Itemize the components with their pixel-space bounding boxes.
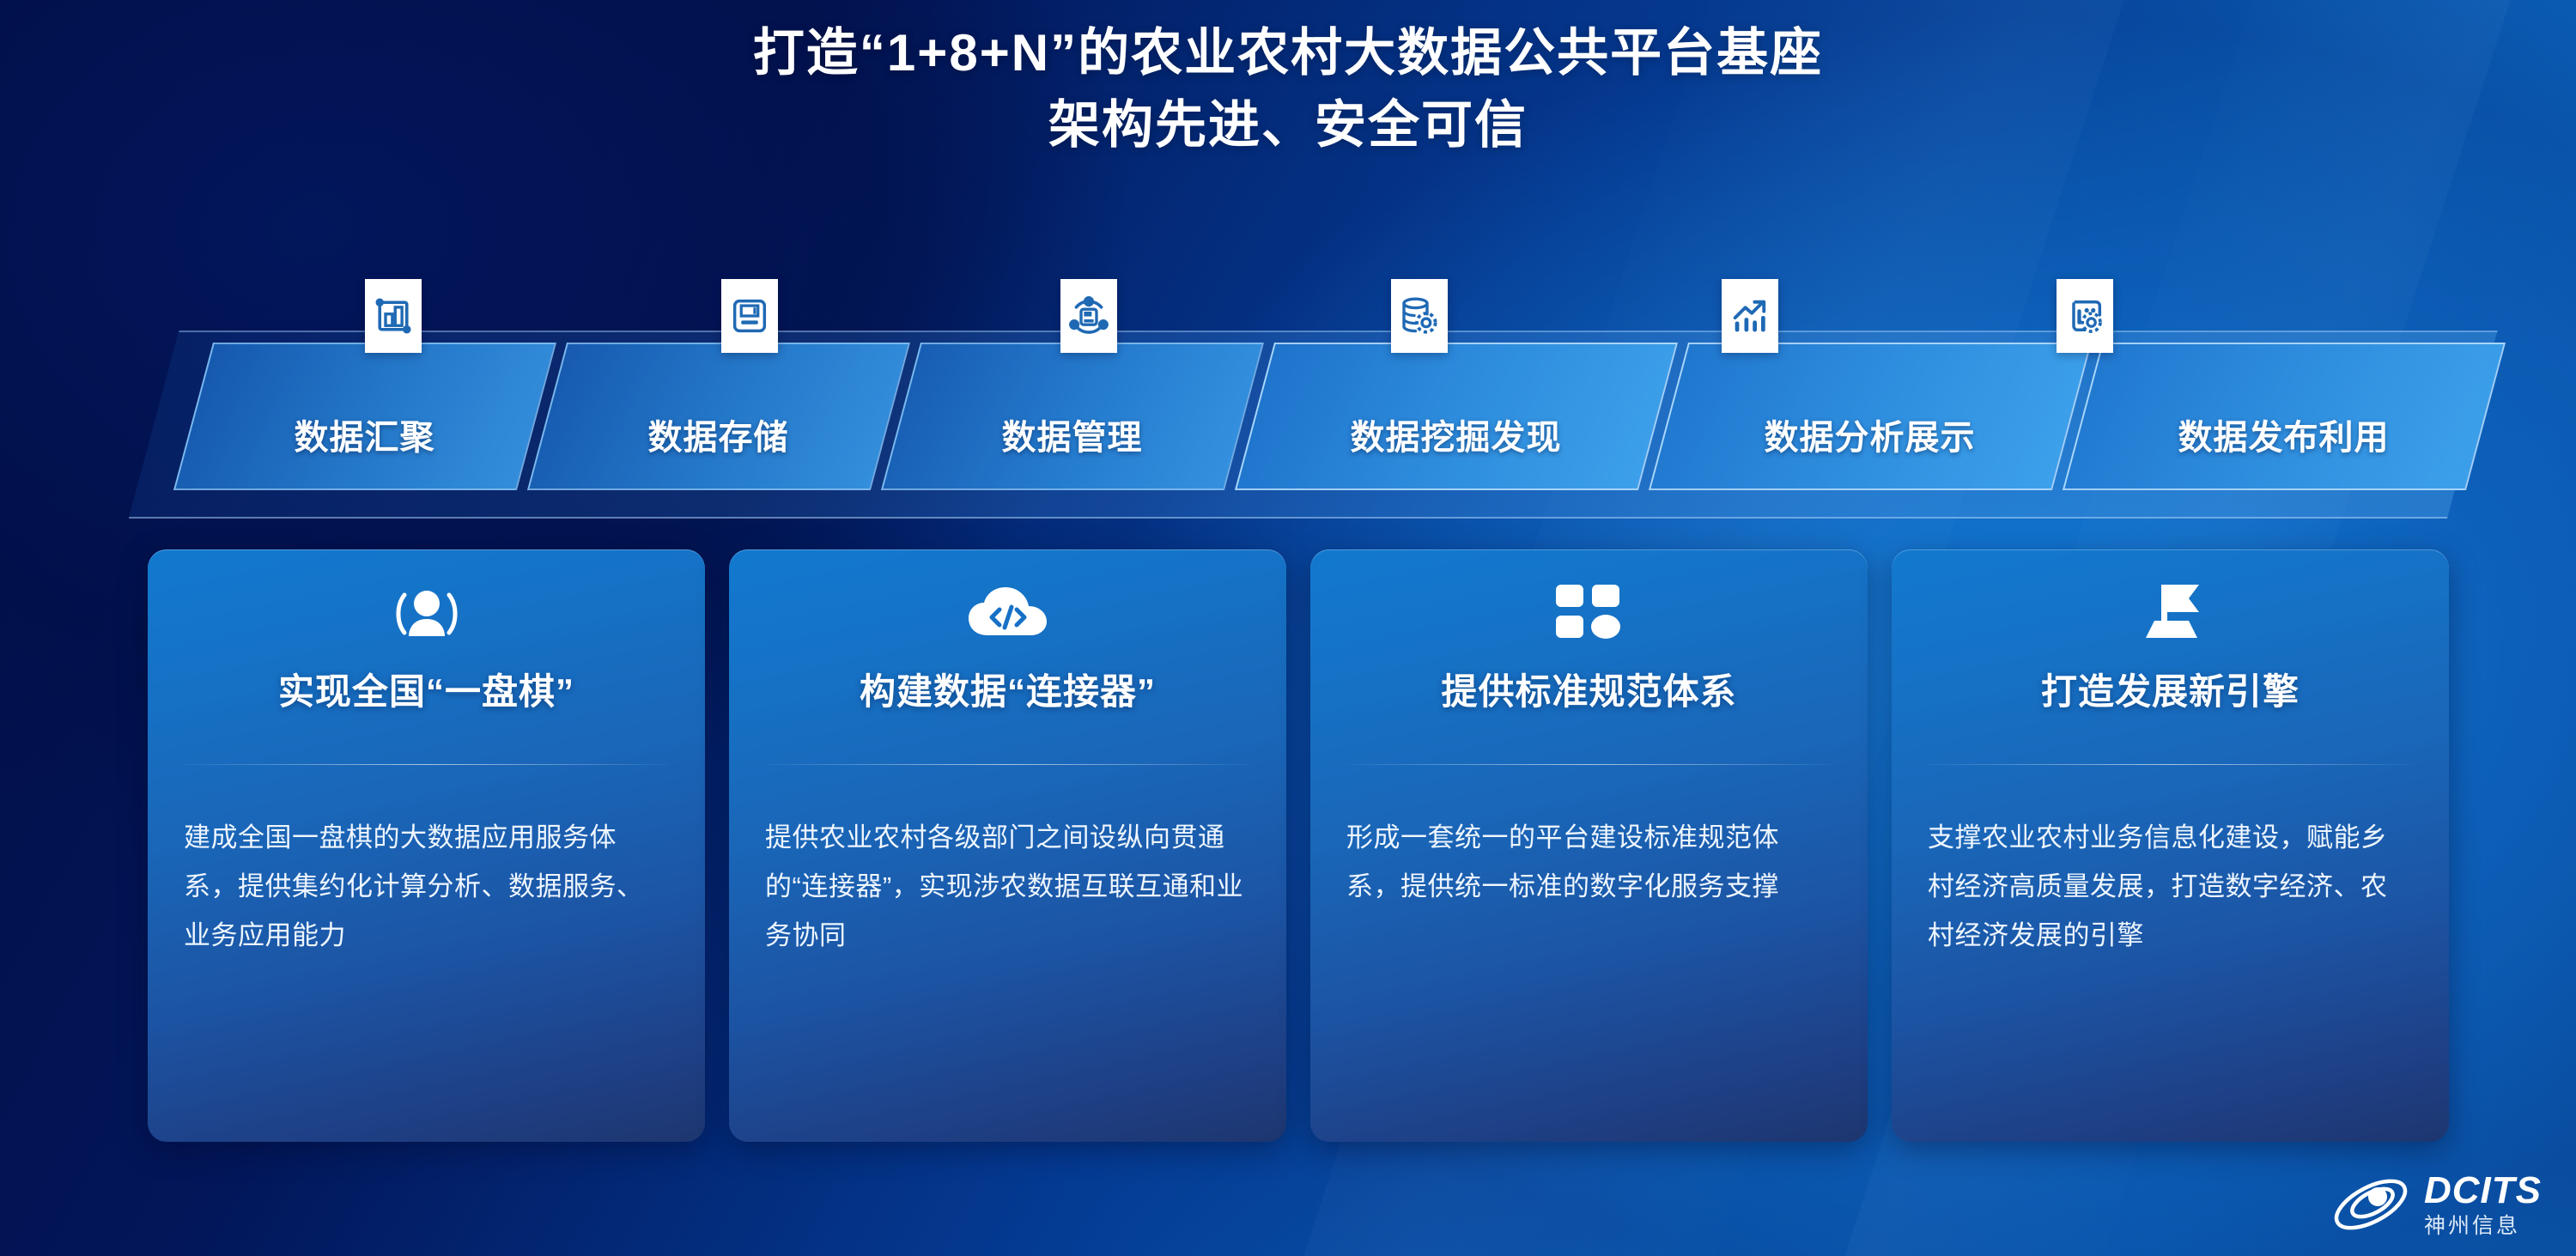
card-body: 建成全国一盘棋的大数据应用服务体系，提供集约化计算分析、数据服务、业务应用能力 bbox=[184, 813, 669, 960]
feature-card-list: 实现全国“一盘棋” 建成全国一盘棋的大数据应用服务体系，提供集约化计算分析、数据… bbox=[148, 549, 2449, 1142]
four-blocks-icon bbox=[1346, 549, 1832, 663]
feature-card[interactable]: 打造发展新引擎 支撑农业农村业务信息化建设，赋能乡村经济高质量发展，打造数字经济… bbox=[1892, 549, 2449, 1142]
bar-chart-nodes-icon bbox=[365, 279, 422, 353]
card-divider bbox=[184, 764, 669, 765]
brand-logo: DCITS 神州信息 bbox=[2330, 1172, 2542, 1237]
logo-text: DCITS 神州信息 bbox=[2424, 1172, 2542, 1237]
server-network-icon bbox=[1060, 279, 1117, 353]
capability-ribbon: 数据汇聚 数据存储 数据管理 bbox=[129, 331, 2447, 515]
dcits-swirl-icon bbox=[2330, 1172, 2412, 1237]
card-title: 实现全国“一盘棋” bbox=[184, 668, 669, 716]
logo-en-text: DCITS bbox=[2424, 1172, 2542, 1210]
cloud-code-icon bbox=[765, 549, 1250, 663]
logo-cn-text: 神州信息 bbox=[2424, 1216, 2542, 1237]
ribbon-item-label: 数据汇聚 bbox=[194, 344, 534, 492]
ribbon-item-label: 数据管理 bbox=[902, 344, 1242, 492]
card-body: 支撑农业农村业务信息化建设，赋能乡村经济高质量发展，打造数字经济、农村经济发展的… bbox=[1928, 813, 2413, 960]
database-gear-icon bbox=[1391, 279, 1448, 353]
ribbon-item-label: 数据分析展示 bbox=[1669, 344, 2069, 492]
slide-canvas: 打造“1+8+N”的农业农村大数据公共平台基座 架构先进、安全可信 数据汇聚 数… bbox=[0, 0, 2576, 1256]
ribbon-item-label: 数据存储 bbox=[548, 344, 888, 492]
chart-trend-up-icon bbox=[1722, 279, 1778, 353]
card-body: 形成一套统一的平台建设标准规范体系，提供统一标准的数字化服务支撑 bbox=[1346, 813, 1832, 911]
card-divider bbox=[765, 764, 1250, 765]
ribbon-item-label: 数据挖掘发现 bbox=[1255, 344, 1656, 492]
card-body: 提供农业农村各级部门之间设纵向贯通的“连接器”，实现涉农数据互联互通和业务协同 bbox=[765, 813, 1250, 960]
ribbon-item-0[interactable]: 数据汇聚 bbox=[173, 343, 556, 490]
users-group-icon bbox=[184, 549, 669, 663]
page-title: 打造“1+8+N”的农业农村大数据公共平台基座 架构先进、安全可信 bbox=[0, 17, 2576, 161]
ribbon-item-1[interactable]: 数据存储 bbox=[527, 343, 910, 490]
card-title: 打造发展新引擎 bbox=[1928, 668, 2413, 716]
ribbon-item-3[interactable]: 数据挖掘发现 bbox=[1235, 343, 1678, 490]
device-gear-icon bbox=[2057, 279, 2113, 353]
card-title: 构建数据“连接器” bbox=[765, 668, 1250, 716]
feature-card[interactable]: 提供标准规范体系 形成一套统一的平台建设标准规范体系，提供统一标准的数字化服务支… bbox=[1310, 549, 1868, 1142]
card-divider bbox=[1928, 764, 2413, 765]
ribbon-item-5[interactable]: 数据发布利用 bbox=[2063, 343, 2506, 490]
ribbon-item-label: 数据发布利用 bbox=[2083, 344, 2483, 492]
flag-icon bbox=[1928, 549, 2413, 663]
card-title: 提供标准规范体系 bbox=[1346, 668, 1832, 716]
ribbon-item-2[interactable]: 数据管理 bbox=[881, 343, 1264, 490]
ribbon-item-4[interactable]: 数据分析展示 bbox=[1649, 343, 2092, 490]
title-line-1: 打造“1+8+N”的农业农村大数据公共平台基座 bbox=[0, 17, 2576, 89]
title-line-2: 架构先进、安全可信 bbox=[0, 89, 2576, 161]
card-divider bbox=[1346, 764, 1832, 765]
feature-card[interactable]: 实现全国“一盘棋” 建成全国一盘棋的大数据应用服务体系，提供集约化计算分析、数据… bbox=[148, 549, 705, 1142]
floppy-disk-icon bbox=[721, 279, 778, 353]
feature-card[interactable]: 构建数据“连接器” 提供农业农村各级部门之间设纵向贯通的“连接器”，实现涉农数据… bbox=[729, 549, 1286, 1142]
